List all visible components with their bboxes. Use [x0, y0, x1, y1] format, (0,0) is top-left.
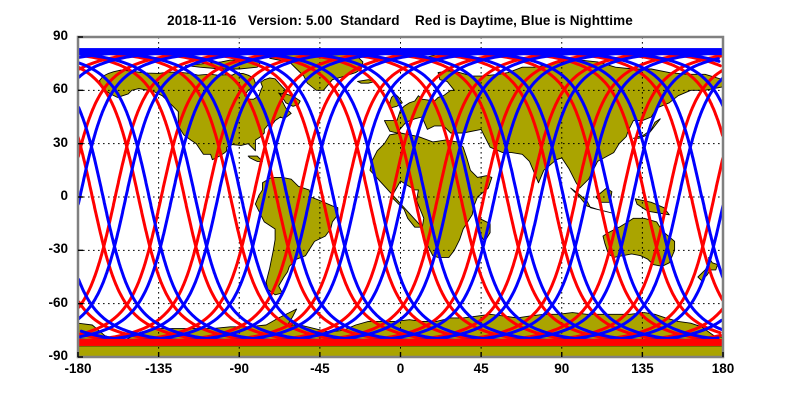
y-axis-tick-label: -30 [28, 241, 68, 256]
x-axis-tick-label: -180 [48, 361, 108, 376]
x-axis-tick-label: 45 [451, 361, 511, 376]
y-axis-tick-label: 0 [28, 188, 68, 203]
plot-svg [0, 0, 800, 400]
plot-area-wrapper: -90-60-300306090 -180-135-90-45045901351… [0, 0, 800, 400]
ground-track-map-figure: 2018-11-16 Version: 5.00 Standard Red is… [0, 0, 800, 400]
x-axis-tick-label: -90 [209, 361, 269, 376]
y-axis-tick-label: -60 [28, 295, 68, 310]
x-axis-tick-label: -45 [290, 361, 350, 376]
x-axis-tick-label: 135 [612, 361, 672, 376]
north-polar-night-band [78, 48, 723, 55]
x-axis-tick-label: 90 [532, 361, 592, 376]
x-axis-tick-label: -135 [129, 361, 189, 376]
x-axis-tick-label: 180 [693, 361, 753, 376]
y-axis-tick-label: 30 [28, 135, 68, 150]
x-axis-tick-label: 0 [371, 361, 431, 376]
south-polar-day-band [78, 339, 723, 346]
y-axis-tick-label: 90 [28, 28, 68, 43]
y-axis-tick-label: 60 [28, 81, 68, 96]
